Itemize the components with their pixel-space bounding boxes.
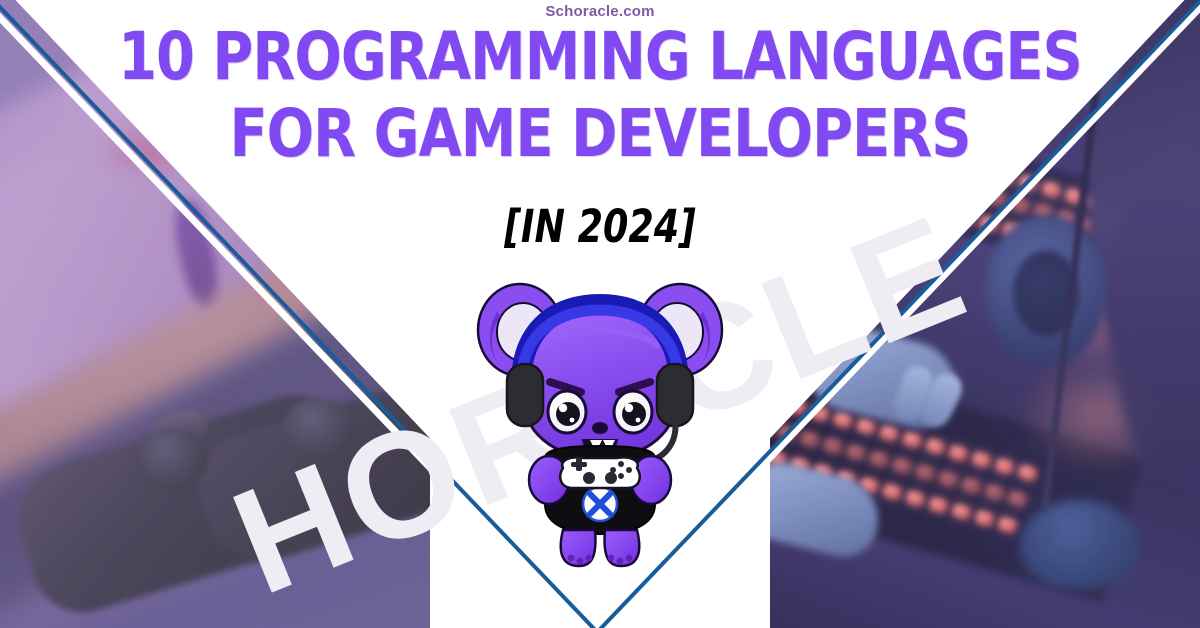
mascot-earcup-left <box>507 364 543 426</box>
mascot-illustration <box>475 272 725 572</box>
mascot-svg <box>475 272 725 572</box>
mascot-nose <box>592 422 608 434</box>
title-block: 10 PROGRAMMING LANGUAGES FOR GAME DEVELO… <box>0 25 1200 166</box>
title-line-2: FOR GAME DEVELOPERS <box>36 102 1164 167</box>
mascot-game-controller <box>560 457 640 488</box>
mascot-body <box>529 446 671 566</box>
title-line-1: 10 PROGRAMMING LANGUAGES <box>36 25 1164 90</box>
poster-canvas: HORACLE Schoracle.com 10 PROGRAMMING LAN… <box>0 0 1200 628</box>
subtitle-year: [IN 2024] <box>60 200 1140 253</box>
